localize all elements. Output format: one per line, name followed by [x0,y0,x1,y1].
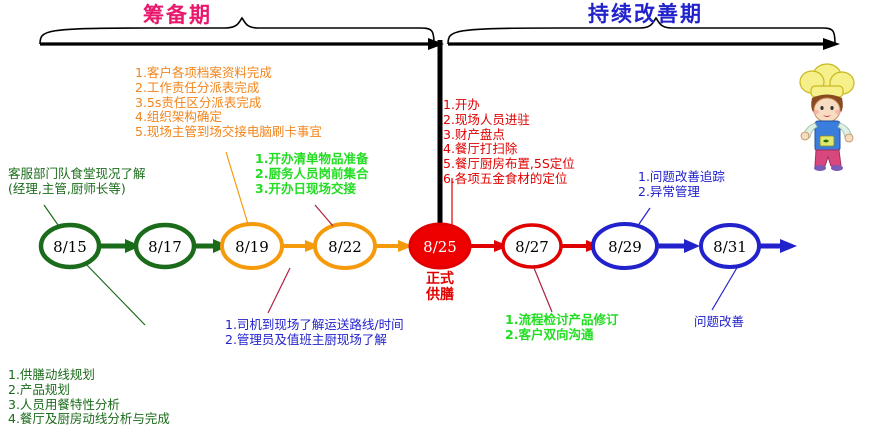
annotation-blue-right: 1.问题改善追踪 2.异常管理 [638,170,725,200]
diagram-vector-layer [0,0,880,430]
chef-character-illustration [800,64,854,171]
phase-title-left: 筹备期 [143,3,212,28]
annotation-green-bottom-left: 1.供膳动线规划 2.产品规划 3.人员用餐特性分析 4.餐厅及厨房动线分析与完… [8,368,170,427]
node-label-8-29[interactable]: 8/29 [595,238,655,256]
annotation-red-right: 1.开办 2.现场人员进驻 3.财产盘点 4.餐厅打扫除 5.餐厅厨房布置,5S… [443,98,575,187]
connector-8-22-to-8-25 [374,240,413,252]
connector-end-arrow [760,239,797,253]
connector-8-29-to-8-31 [657,239,700,253]
node-sublabel-8-25: 正式 供膳 [405,271,475,303]
timeline-diagram: 筹备期 持续改善期 1.客户各项档案资料完成 2.工作责任分派表完成 3.5s责… [0,0,880,430]
annotation-green-left: 客服部门队食堂现况了解 (经理,主管,厨师长等) [8,167,146,197]
node-label-8-15[interactable]: 8/15 [40,238,100,256]
annotation-bright-green-bottom: 1.流程检讨产品修订 2.客户双向沟通 [505,313,618,343]
node-label-8-22[interactable]: 8/22 [315,238,375,256]
phase-title-right: 持续改善期 [588,2,703,27]
leader-green-mid [315,205,333,226]
leader-orange-top [226,152,248,224]
leader-bright-green [534,268,552,312]
node-label-8-17[interactable]: 8/17 [135,238,195,256]
leader-blue-bottom-right [712,266,738,310]
chef-pants [815,150,841,166]
annotation-blue-bottom-right: 问题改善 [694,315,744,330]
phase-arrow-left [40,38,444,50]
leader-blue-right [637,208,650,227]
leader-blue-bottom [268,268,290,313]
node-label-8-27[interactable]: 8/27 [502,238,562,256]
leader-green-left [44,205,58,225]
node-label-8-31[interactable]: 8/31 [700,238,760,256]
phase-brace-left [40,18,434,44]
annotation-green-mid: 1.开办清单物品准备 2.厨务人员岗前集合 3.开办日现场交接 [255,152,368,196]
node-label-8-19[interactable]: 8/19 [222,238,282,256]
node-label-8-25[interactable]: 8/25 [410,238,470,256]
phase-arrow-right [448,38,840,50]
annotation-blue-bottom: 1.司机到现场了解运送路线/时间 2.管理员及值班主厨现场了解 [225,318,404,348]
chef-hat-icon [800,64,854,97]
chef-face [814,98,840,122]
annotation-orange-top: 1.客户各项档案资料完成 2.工作责任分派表完成 3.5s责任区分派表完成 4.… [135,66,322,140]
leader-green-bottom-left [84,262,145,325]
